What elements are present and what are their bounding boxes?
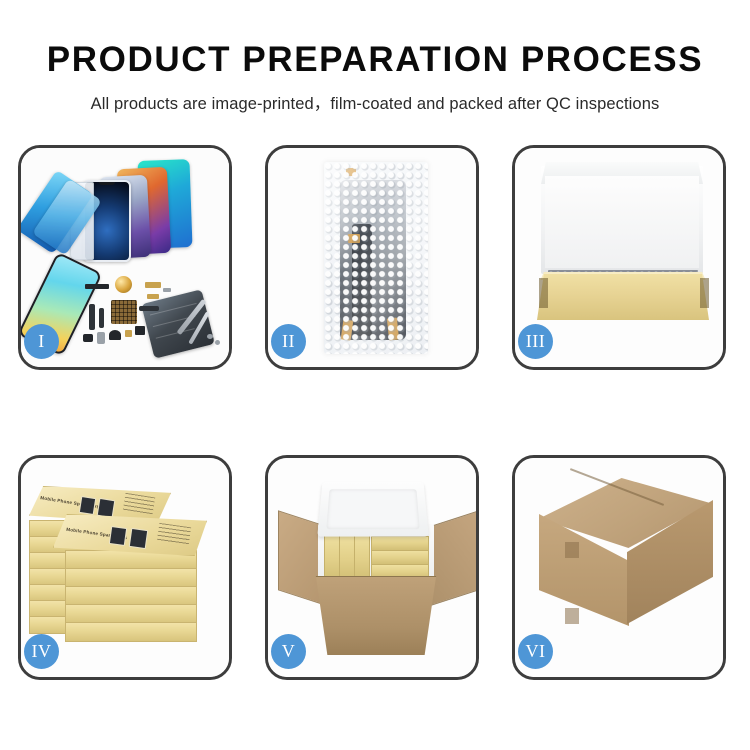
step-badge-5: V [271, 634, 306, 669]
box-side-tab-left [539, 278, 548, 308]
process-step-grid: I II [18, 145, 734, 680]
process-step-card-1[interactable]: I [18, 145, 232, 370]
box-side-tab-right [700, 278, 709, 308]
carton-body [312, 576, 440, 655]
process-step-card-2[interactable]: II [265, 145, 479, 370]
bubble-wrap-package [324, 162, 428, 354]
chip-component [111, 300, 137, 324]
step-badge-1: I [24, 324, 59, 359]
step-badge-2: II [271, 324, 306, 359]
process-step-card-5[interactable]: V [265, 455, 479, 680]
yellow-box-front [537, 274, 709, 320]
vibration-motor-part [115, 276, 132, 293]
step-badge-6: VI [518, 634, 553, 669]
foam-lid [317, 482, 428, 536]
step-badge-4: IV [24, 634, 59, 669]
foam-padding [545, 176, 699, 268]
process-step-card-3[interactable]: III [512, 145, 726, 370]
carton-tab-upper [565, 542, 579, 558]
page-header: PRODUCT PREPARATION PROCESS All products… [0, 0, 750, 114]
page-subtitle: All products are image-printed，film-coat… [0, 79, 750, 114]
plastic-sheen [324, 162, 428, 354]
process-step-card-6[interactable]: VI [512, 455, 726, 680]
page-title: PRODUCT PREPARATION PROCESS [0, 0, 750, 79]
carton-tab-lower [565, 608, 579, 624]
process-step-card-4[interactable]: Mobile Phone Spare Parts Mobile Phone Sp… [18, 455, 232, 680]
step-badge-3: III [518, 324, 553, 359]
